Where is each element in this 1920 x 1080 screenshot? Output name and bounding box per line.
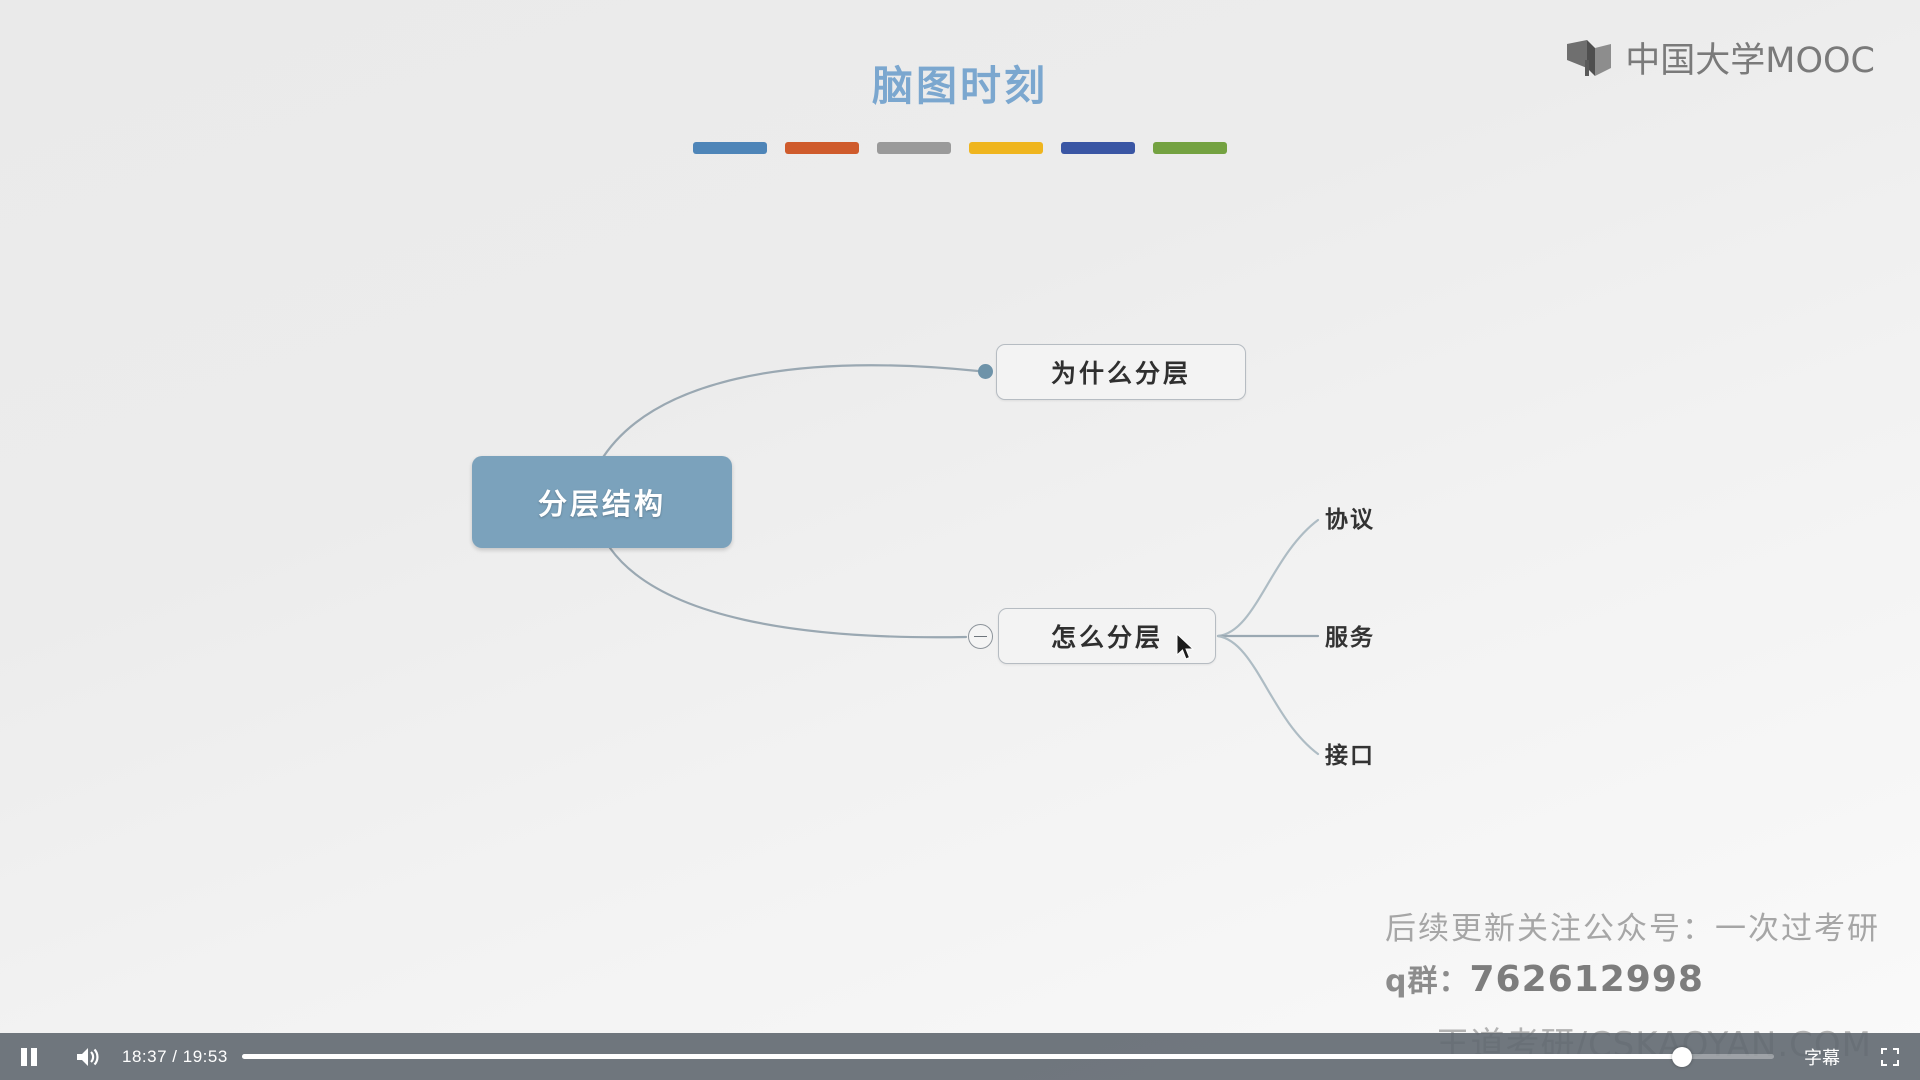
volume-button[interactable] [58, 1033, 120, 1080]
progress-fill [242, 1054, 1682, 1059]
promo-qq-number: 762612998 [1469, 959, 1703, 1000]
pause-button[interactable] [0, 1033, 58, 1080]
collapse-toggle-icon[interactable] [968, 624, 993, 649]
exit-fullscreen-icon [1878, 1045, 1902, 1069]
promo-line-wechat: 后续更新关注公众号：一次过考研 [1385, 903, 1880, 948]
promo-qq-prefix: q群： [1385, 964, 1469, 999]
total-time: 19:53 [183, 1047, 228, 1066]
volume-on-icon [75, 1045, 103, 1069]
fullscreen-toggle-button[interactable] [1860, 1033, 1920, 1080]
mindmap-leaf-interface[interactable]: 接口 [1325, 736, 1375, 770]
time-display: 18:37 / 19:53 [120, 1047, 242, 1067]
mindmap-node-why-layered[interactable]: 为什么分层 [996, 344, 1246, 400]
progress-bar[interactable] [242, 1033, 1784, 1080]
mindmap-leaf-service[interactable]: 服务 [1325, 618, 1375, 652]
progress-handle[interactable] [1672, 1047, 1692, 1067]
progress-track[interactable] [242, 1054, 1774, 1059]
mouse-cursor [1176, 633, 1198, 663]
promo-line-qq: q群：762612998 [1385, 956, 1880, 1000]
current-time: 18:37 [122, 1047, 167, 1066]
subtitle-button[interactable]: 字幕 [1784, 1044, 1860, 1070]
promo-watermark: 后续更新关注公众号：一次过考研 q群：762612998 [1385, 903, 1880, 1000]
pause-icon [19, 1046, 39, 1068]
video-control-bar: 18:37 / 19:53 字幕 [0, 1033, 1920, 1080]
mindmap-leaf-protocol[interactable]: 协议 [1325, 500, 1375, 534]
mindmap-canvas: 分层结构 为什么分层 怎么分层 协议 服务 接口 [0, 0, 1920, 1040]
branch-connector-dot [978, 364, 993, 379]
video-player-stage: 脑图时刻 中国大学MOOC [0, 0, 1920, 1080]
time-separator: / [172, 1047, 177, 1066]
mindmap-connectors [0, 0, 1920, 1040]
mindmap-root-node[interactable]: 分层结构 [472, 456, 732, 548]
